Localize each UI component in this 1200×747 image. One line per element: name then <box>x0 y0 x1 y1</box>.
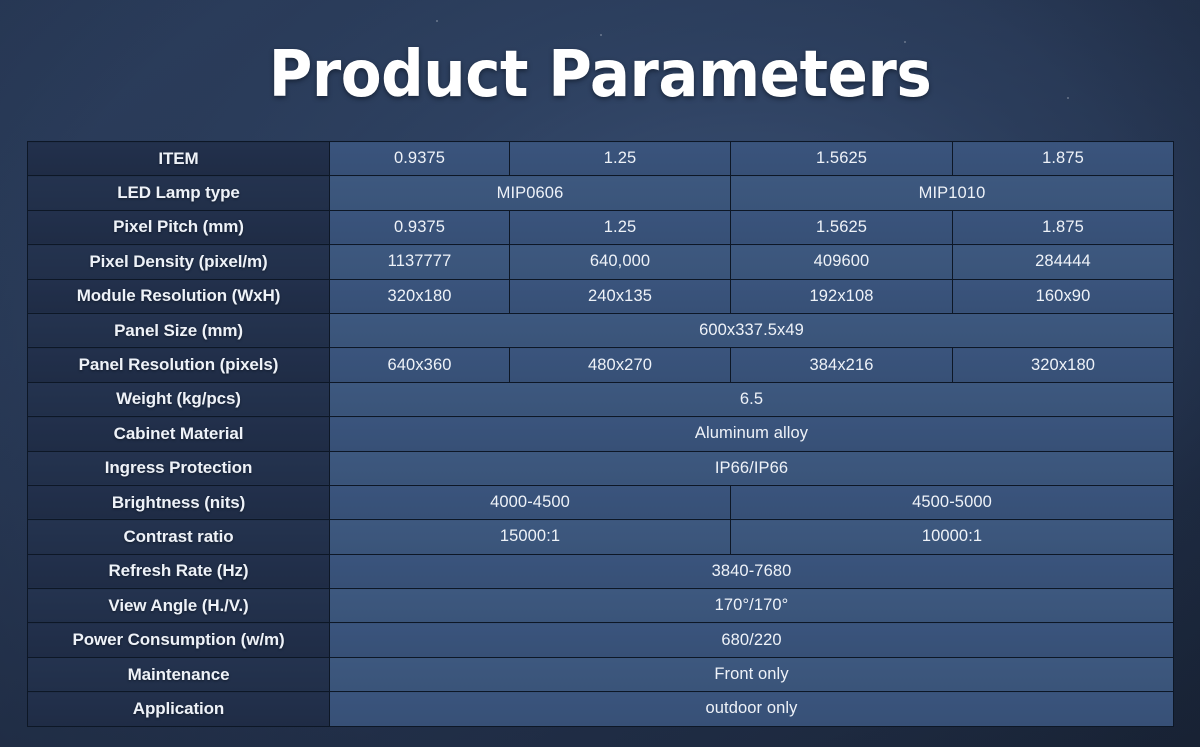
table-row: Applicationoutdoor only <box>28 692 1174 726</box>
product-parameters-table: ITEM0.93751.251.56251.875LED Lamp typeMI… <box>27 141 1174 727</box>
row-label: Application <box>28 692 330 726</box>
table-cell: 4500-5000 <box>731 485 1174 519</box>
table-row: Panel Size (mm)600x337.5x49 <box>28 313 1174 347</box>
table-cell: outdoor only <box>330 692 1174 726</box>
table-cell: 480x270 <box>510 348 731 382</box>
table-row: Contrast ratio15000:110000:1 <box>28 520 1174 554</box>
table-cell: 320x180 <box>330 279 510 313</box>
table-cell: 640,000 <box>510 245 731 279</box>
table-cell: Front only <box>330 657 1174 691</box>
table-row: View Angle (H./V.)170°/170° <box>28 589 1174 623</box>
table-cell: 1137777 <box>330 245 510 279</box>
table-cell: 1.25 <box>510 210 731 244</box>
table-cell: IP66/IP66 <box>330 451 1174 485</box>
table-cell: 1.5625 <box>731 210 953 244</box>
table-cell: 1.875 <box>953 210 1174 244</box>
table-cell: 6.5 <box>330 382 1174 416</box>
table-row: MaintenanceFront only <box>28 657 1174 691</box>
table-cell: 170°/170° <box>330 589 1174 623</box>
row-label: Pixel Density (pixel/m) <box>28 245 330 279</box>
row-label: LED Lamp type <box>28 176 330 210</box>
row-label: Brightness (nits) <box>28 485 330 519</box>
row-label: Refresh Rate (Hz) <box>28 554 330 588</box>
table-cell: 600x337.5x49 <box>330 313 1174 347</box>
table-cell: 0.9375 <box>330 210 510 244</box>
table-cell: 192x108 <box>731 279 953 313</box>
table-cell: 160x90 <box>953 279 1174 313</box>
row-label: Module Resolution (WxH) <box>28 279 330 313</box>
table-row: Weight (kg/pcs)6.5 <box>28 382 1174 416</box>
table-row: ITEM0.93751.251.56251.875 <box>28 142 1174 176</box>
row-label: Power Consumption (w/m) <box>28 623 330 657</box>
table-cell: 15000:1 <box>330 520 731 554</box>
table-cell: 320x180 <box>953 348 1174 382</box>
table-cell: 640x360 <box>330 348 510 382</box>
row-label: Weight (kg/pcs) <box>28 382 330 416</box>
row-label: Panel Resolution (pixels) <box>28 348 330 382</box>
table-row: Cabinet MaterialAluminum alloy <box>28 417 1174 451</box>
table-cell: 4000-4500 <box>330 485 731 519</box>
table-cell: 409600 <box>731 245 953 279</box>
table-cell: 0.9375 <box>330 142 510 176</box>
table-row: Pixel Density (pixel/m)1137777640,000409… <box>28 245 1174 279</box>
table-cell: MIP0606 <box>330 176 731 210</box>
table-cell: 10000:1 <box>731 520 1174 554</box>
table-cell: 3840-7680 <box>330 554 1174 588</box>
table-body: ITEM0.93751.251.56251.875LED Lamp typeMI… <box>28 142 1174 727</box>
table-row: Pixel Pitch (mm)0.93751.251.56251.875 <box>28 210 1174 244</box>
row-label: Maintenance <box>28 657 330 691</box>
table-cell: 284444 <box>953 245 1174 279</box>
table-row: Refresh Rate (Hz)3840-7680 <box>28 554 1174 588</box>
row-label: Ingress Protection <box>28 451 330 485</box>
row-label: Cabinet Material <box>28 417 330 451</box>
row-label: Contrast ratio <box>28 520 330 554</box>
row-label: Panel Size (mm) <box>28 313 330 347</box>
table-row: Brightness (nits)4000-45004500-5000 <box>28 485 1174 519</box>
row-label: ITEM <box>28 142 330 176</box>
table-row: Panel Resolution (pixels)640x360480x2703… <box>28 348 1174 382</box>
table-cell: 680/220 <box>330 623 1174 657</box>
table-row: Power Consumption (w/m)680/220 <box>28 623 1174 657</box>
table-cell: 240x135 <box>510 279 731 313</box>
product-parameters-page: Product Parameters ITEM0.93751.251.56251… <box>0 0 1200 747</box>
table-cell: 1.25 <box>510 142 731 176</box>
table-cell: 1.875 <box>953 142 1174 176</box>
row-label: View Angle (H./V.) <box>28 589 330 623</box>
table-row: LED Lamp typeMIP0606MIP1010 <box>28 176 1174 210</box>
page-title: Product Parameters <box>42 36 1158 114</box>
table-row: Ingress ProtectionIP66/IP66 <box>28 451 1174 485</box>
table-cell: Aluminum alloy <box>330 417 1174 451</box>
table-cell: MIP1010 <box>731 176 1174 210</box>
table-cell: 384x216 <box>731 348 953 382</box>
table-row: Module Resolution (WxH)320x180240x135192… <box>28 279 1174 313</box>
row-label: Pixel Pitch (mm) <box>28 210 330 244</box>
table-cell: 1.5625 <box>731 142 953 176</box>
